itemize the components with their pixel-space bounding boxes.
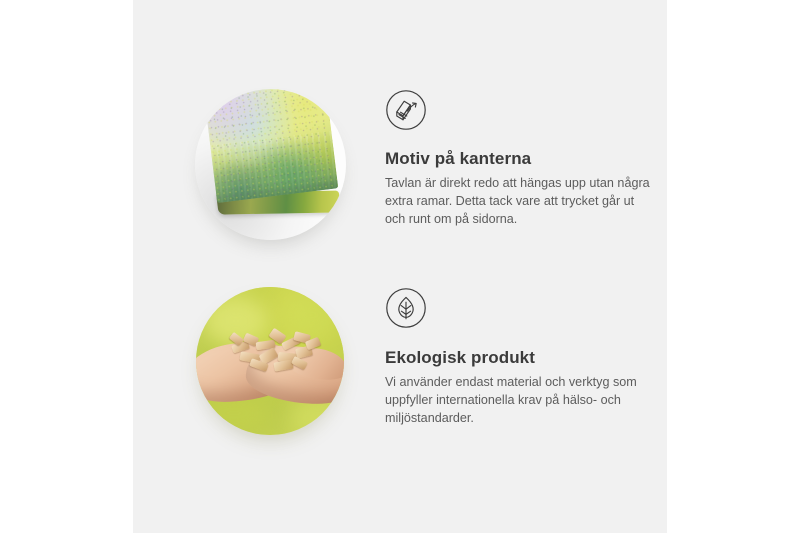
canvas-wrapped-edge-icon — [385, 89, 427, 131]
leaf-icon — [385, 287, 427, 329]
feature-copy: Ekologisk produkt Vi använder endast mat… — [385, 287, 667, 428]
canvas-block — [202, 89, 346, 231]
product-feature-banner: Motiv på kanterna Tavlan är direkt redo … — [0, 0, 800, 533]
feature-copy: Motiv på kanterna Tavlan är direkt redo … — [385, 89, 667, 229]
hands-holding-wood-chips-photo — [196, 287, 344, 435]
feature-title: Ekologisk produkt — [385, 348, 667, 368]
feature-description: Vi använder endast material och verktyg … — [385, 374, 655, 428]
canvas-printed-face — [202, 89, 339, 203]
wood-chip — [291, 356, 308, 370]
green-meadow-backdrop — [196, 287, 344, 435]
wood-chip-pile — [230, 327, 322, 371]
feature-title: Motiv på kanterna — [385, 149, 667, 169]
white-backdrop — [195, 89, 346, 240]
feature-list: Motiv på kanterna Tavlan är direkt redo … — [133, 0, 667, 533]
canvas-print-corner-photo — [195, 89, 346, 240]
feature-description: Tavlan är direkt redo att hängas upp uta… — [385, 175, 655, 229]
content-panel: Motiv på kanterna Tavlan är direkt redo … — [133, 0, 667, 533]
